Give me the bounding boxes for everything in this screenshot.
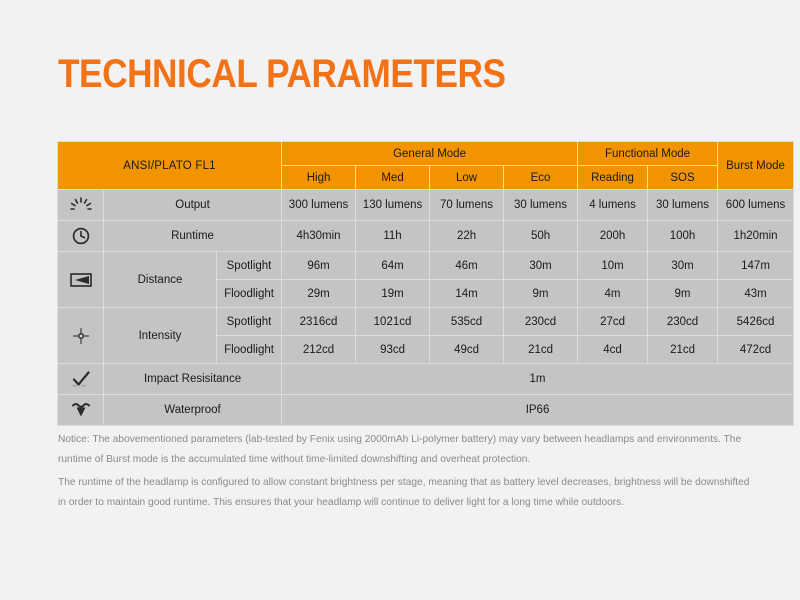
crosshair-icon (58, 327, 103, 345)
sublabel-intensity-floodlight: Floodlight (217, 336, 282, 364)
sublabel-distance-floodlight: Floodlight (217, 280, 282, 308)
cell-runtime-low: 22h (430, 221, 504, 252)
cell-output-burst: 600 lumens (718, 190, 794, 221)
cell-runtime-med: 11h (356, 221, 430, 252)
sublabel-distance-spotlight: Spotlight (217, 252, 282, 280)
cell-intensity-spotlight-low: 535cd (430, 308, 504, 336)
table-body: Output 300 lumens 130 lumens 70 lumens 3… (58, 190, 794, 426)
hammer-check-icon (58, 370, 103, 388)
cell-distance-spotlight-low: 46m (430, 252, 504, 280)
header-mode-eco: Eco (504, 166, 578, 190)
cell-intensity-floodlight-med: 93cd (356, 336, 430, 364)
technical-parameters-page: TECHNICAL PARAMETERS ANSI/PLATO FL1 Gene… (0, 0, 800, 600)
header-group-functional-mode: Functional Mode (578, 142, 718, 166)
cell-runtime-reading: 200h (578, 221, 648, 252)
clock-icon-cell (58, 221, 104, 252)
beam-cone-icon-cell (58, 252, 104, 308)
header-mode-low: Low (430, 166, 504, 190)
cell-distance-floodlight-med: 19m (356, 280, 430, 308)
table-row-distance-spotlight: Distance Spotlight 96m 64m 46m 30m 10m 3… (58, 252, 794, 280)
cell-intensity-floodlight-sos: 21cd (648, 336, 718, 364)
crosshair-icon-cell (58, 308, 104, 364)
water-drop-icon-cell (58, 395, 104, 426)
table-row-impact-resistance: Impact Resisitance 1m (58, 364, 794, 395)
notice-paragraph-1: Notice: The abovementioned parameters (l… (58, 430, 752, 469)
notice-block: Notice: The abovementioned parameters (l… (58, 430, 752, 512)
cell-output-reading: 4 lumens (578, 190, 648, 221)
header-mode-high: High (282, 166, 356, 190)
beam-cone-icon (58, 272, 103, 288)
cell-intensity-spotlight-eco: 230cd (504, 308, 578, 336)
clock-icon (58, 227, 103, 245)
sublabel-intensity-spotlight: Spotlight (217, 308, 282, 336)
header-mode-reading: Reading (578, 166, 648, 190)
header-row-groups: ANSI/PLATO FL1 General Mode Functional M… (58, 142, 794, 166)
cell-intensity-floodlight-high: 212cd (282, 336, 356, 364)
cell-intensity-floodlight-reading: 4cd (578, 336, 648, 364)
cell-intensity-spotlight-reading: 27cd (578, 308, 648, 336)
specifications-table-container: ANSI/PLATO FL1 General Mode Functional M… (57, 141, 745, 426)
notice-paragraph-2: The runtime of the headlamp is configure… (58, 473, 752, 512)
header-group-burst-mode: Burst Mode (718, 142, 794, 190)
cell-distance-floodlight-high: 29m (282, 280, 356, 308)
cell-output-low: 70 lumens (430, 190, 504, 221)
cell-distance-floodlight-burst: 43m (718, 280, 794, 308)
cell-distance-spotlight-burst: 147m (718, 252, 794, 280)
cell-distance-floodlight-low: 14m (430, 280, 504, 308)
specifications-table: ANSI/PLATO FL1 General Mode Functional M… (57, 141, 794, 426)
cell-intensity-spotlight-med: 1021cd (356, 308, 430, 336)
row-label-distance: Distance (104, 252, 217, 308)
row-label-impact-resistance: Impact Resisitance (104, 364, 282, 395)
cell-runtime-high: 4h30min (282, 221, 356, 252)
cell-distance-spotlight-eco: 30m (504, 252, 578, 280)
header-mode-med: Med (356, 166, 430, 190)
cell-distance-spotlight-sos: 30m (648, 252, 718, 280)
table-row-runtime: Runtime 4h30min 11h 22h 50h 200h 100h 1h… (58, 221, 794, 252)
cell-impact-resistance-value: 1m (282, 364, 794, 395)
cell-distance-floodlight-eco: 9m (504, 280, 578, 308)
cell-intensity-floodlight-burst: 472cd (718, 336, 794, 364)
cell-runtime-eco: 50h (504, 221, 578, 252)
cell-intensity-floodlight-eco: 21cd (504, 336, 578, 364)
row-label-waterproof: Waterproof (104, 395, 282, 426)
cell-output-sos: 30 lumens (648, 190, 718, 221)
table-row-output: Output 300 lumens 130 lumens 70 lumens 3… (58, 190, 794, 221)
light-burst-icon-cell (58, 190, 104, 221)
header-mode-sos: SOS (648, 166, 718, 190)
cell-intensity-spotlight-high: 2316cd (282, 308, 356, 336)
cell-waterproof-value: IP66 (282, 395, 794, 426)
light-burst-icon (58, 197, 103, 213)
table-row-intensity-spotlight: Intensity Spotlight 2316cd 1021cd 535cd … (58, 308, 794, 336)
water-drop-icon (58, 402, 103, 418)
cell-runtime-burst: 1h20min (718, 221, 794, 252)
cell-distance-spotlight-reading: 10m (578, 252, 648, 280)
cell-distance-spotlight-med: 64m (356, 252, 430, 280)
cell-intensity-spotlight-sos: 230cd (648, 308, 718, 336)
header-corner-label: ANSI/PLATO FL1 (58, 142, 282, 190)
table-row-waterproof: Waterproof IP66 (58, 395, 794, 426)
row-label-intensity: Intensity (104, 308, 217, 364)
cell-output-high: 300 lumens (282, 190, 356, 221)
cell-runtime-sos: 100h (648, 221, 718, 252)
header-group-general-mode: General Mode (282, 142, 578, 166)
cell-distance-spotlight-high: 96m (282, 252, 356, 280)
cell-distance-floodlight-reading: 4m (578, 280, 648, 308)
row-label-runtime: Runtime (104, 221, 282, 252)
page-title: TECHNICAL PARAMETERS (58, 52, 506, 96)
cell-output-med: 130 lumens (356, 190, 430, 221)
cell-intensity-floodlight-low: 49cd (430, 336, 504, 364)
row-label-output: Output (104, 190, 282, 221)
hammer-check-icon-cell (58, 364, 104, 395)
table-header: ANSI/PLATO FL1 General Mode Functional M… (58, 142, 794, 190)
cell-distance-floodlight-sos: 9m (648, 280, 718, 308)
cell-output-eco: 30 lumens (504, 190, 578, 221)
cell-intensity-spotlight-burst: 5426cd (718, 308, 794, 336)
